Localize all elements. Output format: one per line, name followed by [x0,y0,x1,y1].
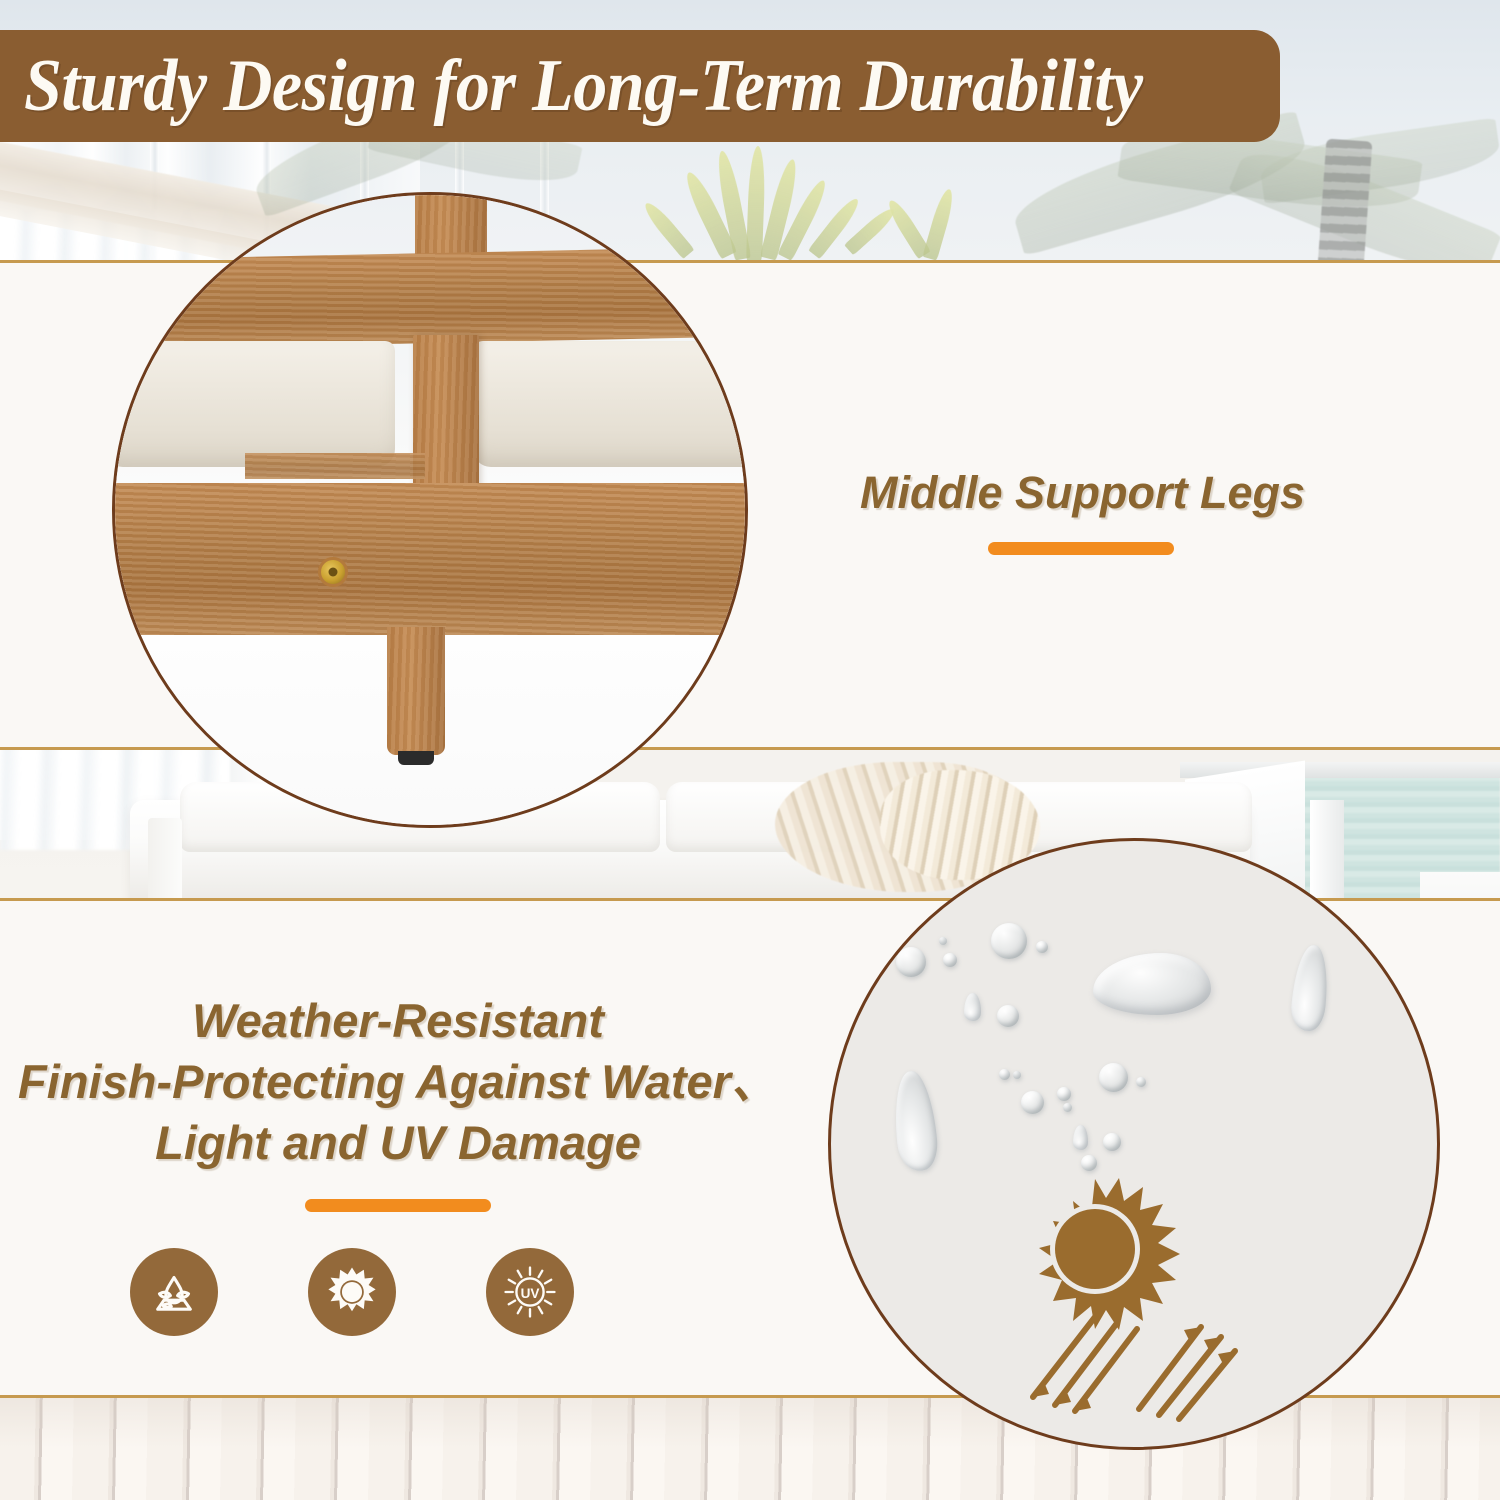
plant-leaf [922,187,956,260]
feature-heading-line-3: Light and UV Damage [18,1112,778,1173]
feature-heading-legs: Middle Support Legs [860,468,1400,518]
seat-cushion-left [112,341,395,467]
water-droplet [964,993,981,1021]
incoming-rays [1033,1317,1137,1411]
inset-weather-resistant [828,838,1440,1450]
water-droplet [1099,1063,1128,1092]
sun-core [1055,1209,1135,1289]
accent-underline [988,542,1174,555]
uv-label: UV [521,1286,540,1301]
water-droplet [1013,1071,1021,1079]
badge-water-repellent [130,1248,218,1336]
water-droplet [1103,1133,1121,1151]
feature-weather-resistant: Weather-Resistant Finish-Protecting Agai… [18,990,778,1212]
water-droplet [1057,1087,1071,1101]
wood-slat-upper [140,247,732,349]
water-streak [890,1069,940,1173]
water-drop-on-fabric-icon [145,1263,203,1321]
leg-foot-pad [398,751,434,765]
feature-heading-line-2: Finish-Protecting Against Water、 [18,1051,778,1112]
water-droplet [1136,1077,1146,1087]
badge-light-resistant [308,1248,396,1336]
feature-badge-row: UV [130,1248,670,1336]
reflected-rays [1139,1327,1235,1419]
water-streak [1289,944,1330,1033]
water-droplet [1036,941,1048,953]
water-droplet [1073,1125,1088,1150]
title-banner: Sturdy Design for Long-Term Durability [0,30,1280,142]
water-droplet [1063,1103,1072,1112]
water-droplet [943,953,957,967]
sofa-arm [148,818,182,906]
water-droplet [991,923,1027,959]
uv-sun-icon: UV [501,1263,559,1321]
wood-front-rail [112,483,748,635]
support-leg-bottom [387,627,445,755]
water-droplet [939,937,947,945]
accent-underline [305,1199,491,1212]
feature-middle-support-legs: Middle Support Legs [860,468,1400,555]
wood-support-rail [245,453,425,479]
page-title: Sturdy Design for Long-Term Durability [24,44,1143,129]
water-droplet [1021,1091,1044,1114]
sun-icon [324,1264,380,1320]
water-droplet [999,1069,1010,1080]
badge-uv-protection: UV [486,1248,574,1336]
brass-screw [318,557,348,587]
water-puddle [1093,953,1211,1015]
feature-heading-line-1: Weather-Resistant [18,990,778,1051]
seat-cushion-right [473,341,748,467]
reflected-ray-arrowheads [1184,1327,1235,1366]
water-droplet [997,1005,1019,1027]
water-droplet [896,947,926,977]
sun-uv-rays-graphic [1007,1161,1287,1441]
inset-middle-support-legs [112,192,748,828]
palm-trunk [1318,139,1373,270]
infographic-canvas: Sturdy Design for Long-Term Durability M… [0,0,1500,1500]
